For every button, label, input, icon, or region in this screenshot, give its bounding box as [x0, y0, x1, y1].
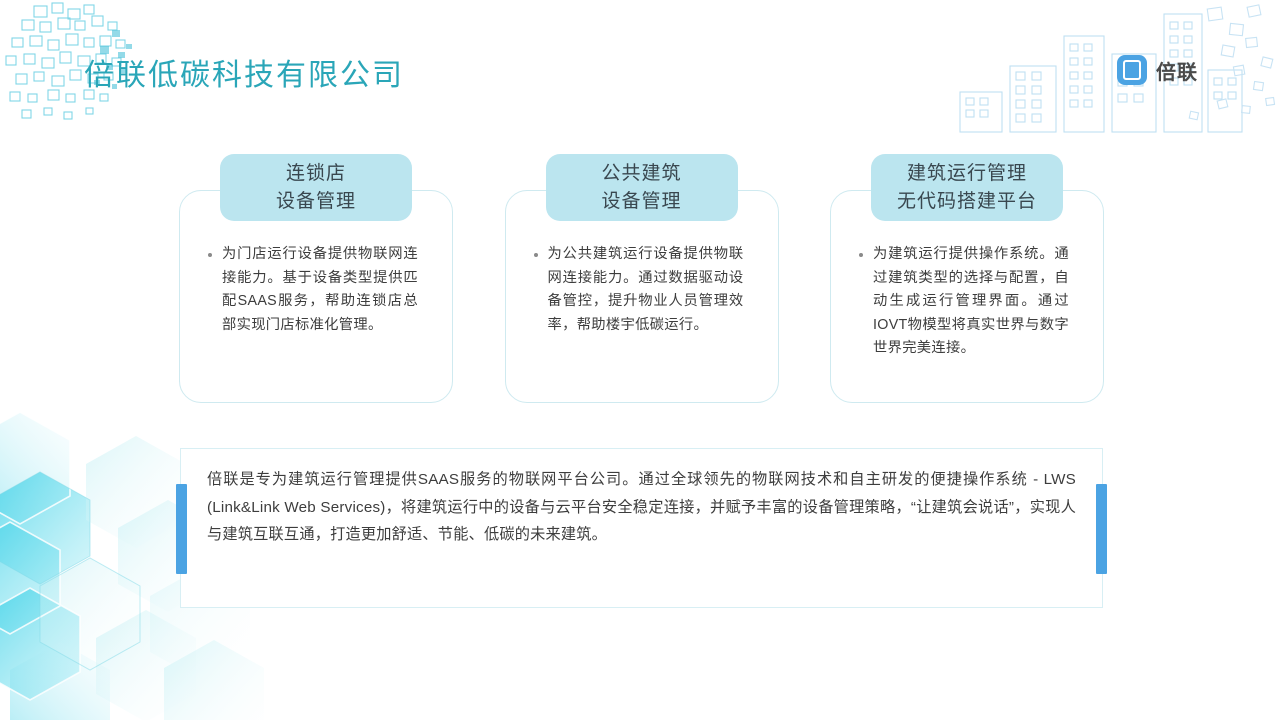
bullet-icon	[534, 253, 538, 257]
rounded-square-logo-icon	[1117, 55, 1147, 85]
brand-logo: 倍联	[1117, 55, 1198, 85]
card-title-line1: 建筑运行管理	[907, 160, 1027, 188]
feature-card[interactable]: 连锁店 设备管理 为门店运行设备提供物联网连接能力。基于设备类型提供匹配SAAS…	[179, 190, 453, 403]
card-description: 为门店运行设备提供物联网连接能力。基于设备类型提供匹配SAAS服务，帮助连锁店总…	[222, 243, 418, 337]
city-skyline-pattern-icon	[950, 0, 1280, 135]
feature-cards: 连锁店 设备管理 为门店运行设备提供物联网连接能力。基于设备类型提供匹配SAAS…	[179, 190, 1104, 403]
bullet-icon	[859, 253, 863, 257]
card-title-line2: 设备管理	[276, 188, 356, 216]
card-description: 为公共建筑运行设备提供物联网连接能力。通过数据驱动设备管控，提升物业人员管理效率…	[548, 243, 744, 337]
card-description: 为建筑运行提供操作系统。通过建筑类型的选择与配置，自动生成运行管理界面。通过IO…	[873, 243, 1069, 361]
card-body: 为建筑运行提供操作系统。通过建筑类型的选择与配置，自动生成运行管理界面。通过IO…	[831, 243, 1103, 361]
card-body: 为公共建筑运行设备提供物联网连接能力。通过数据驱动设备管控，提升物业人员管理效率…	[506, 243, 778, 337]
slide-root: 倍联低碳科技有限公司 倍联 连锁店 设备管理 为门店运行设备提供物联网连接能力。…	[0, 0, 1280, 720]
feature-card[interactable]: 建筑运行管理 无代码搭建平台 为建筑运行提供操作系统。通过建筑类型的选择与配置，…	[830, 190, 1104, 403]
company-description: 倍联是专为建筑运行管理提供SAAS服务的物联网平台公司。通过全球领先的物联网技术…	[180, 448, 1103, 608]
accent-bar-left	[176, 484, 187, 574]
page-title: 倍联低碳科技有限公司	[84, 50, 404, 94]
card-body: 为门店运行设备提供物联网连接能力。基于设备类型提供匹配SAAS服务，帮助连锁店总…	[180, 243, 452, 337]
card-title-line1: 公共建筑	[601, 160, 681, 188]
card-header-pill: 连锁店 设备管理	[220, 154, 412, 221]
card-title-line1: 连锁店	[286, 160, 346, 188]
card-title-line2: 设备管理	[601, 188, 681, 216]
accent-bar-right	[1096, 484, 1107, 574]
card-header-pill: 公共建筑 设备管理	[546, 154, 738, 221]
description-text: 倍联是专为建筑运行管理提供SAAS服务的物联网平台公司。通过全球领先的物联网技术…	[207, 466, 1076, 549]
bullet-icon	[208, 253, 212, 257]
card-title-line2: 无代码搭建平台	[897, 188, 1037, 216]
card-header-pill: 建筑运行管理 无代码搭建平台	[871, 154, 1063, 221]
brand-name: 倍联	[1156, 56, 1198, 85]
feature-card[interactable]: 公共建筑 设备管理 为公共建筑运行设备提供物联网连接能力。通过数据驱动设备管控，…	[505, 190, 779, 403]
